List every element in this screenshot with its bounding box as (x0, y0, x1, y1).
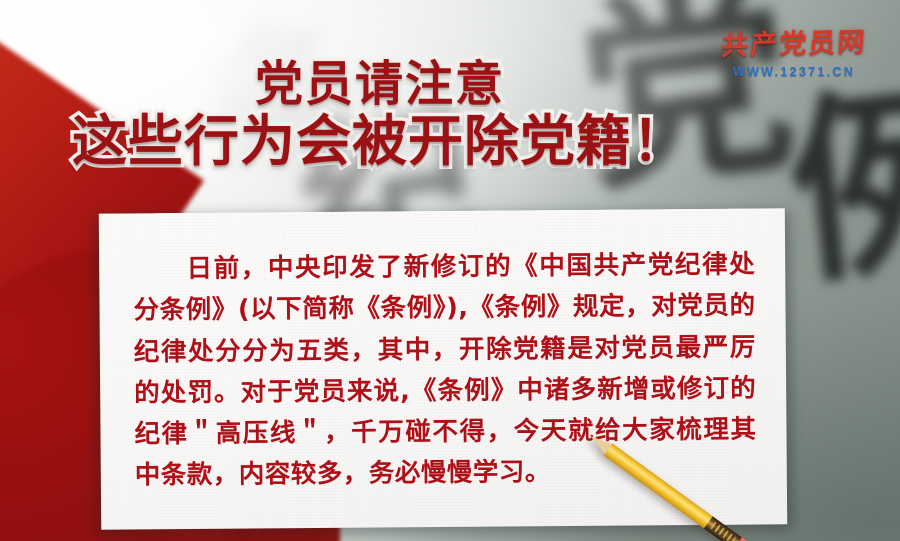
note-card-content: 日前，中央印发了新修订的《中国共产党纪律处分条例》(以下简称《条例》),《条例》… (99, 208, 787, 529)
body-paragraph: 日前，中央印发了新修订的《中国共产党纪律处分条例》(以下简称《条例》),《条例》… (133, 250, 756, 491)
site-logo-url: WWW.12371.CN (706, 65, 882, 79)
site-logo[interactable]: 共产党员网 WWW.12371.CN (706, 22, 882, 79)
note-card: 日前，中央印发了新修订的《中国共产党纪律处分条例》(以下简称《条例》),《条例》… (99, 208, 787, 529)
body-text: 日前，中央印发了新修订的《中国共产党纪律处分条例》(以下简称《条例》),《条例》… (133, 245, 757, 498)
poster-canvas: 条 纪 党 例 共产党员网 WWW.12371.CN 党员请注意 这些行为会被开… (0, 0, 900, 541)
site-logo-text: 共产党员网 (705, 20, 884, 64)
